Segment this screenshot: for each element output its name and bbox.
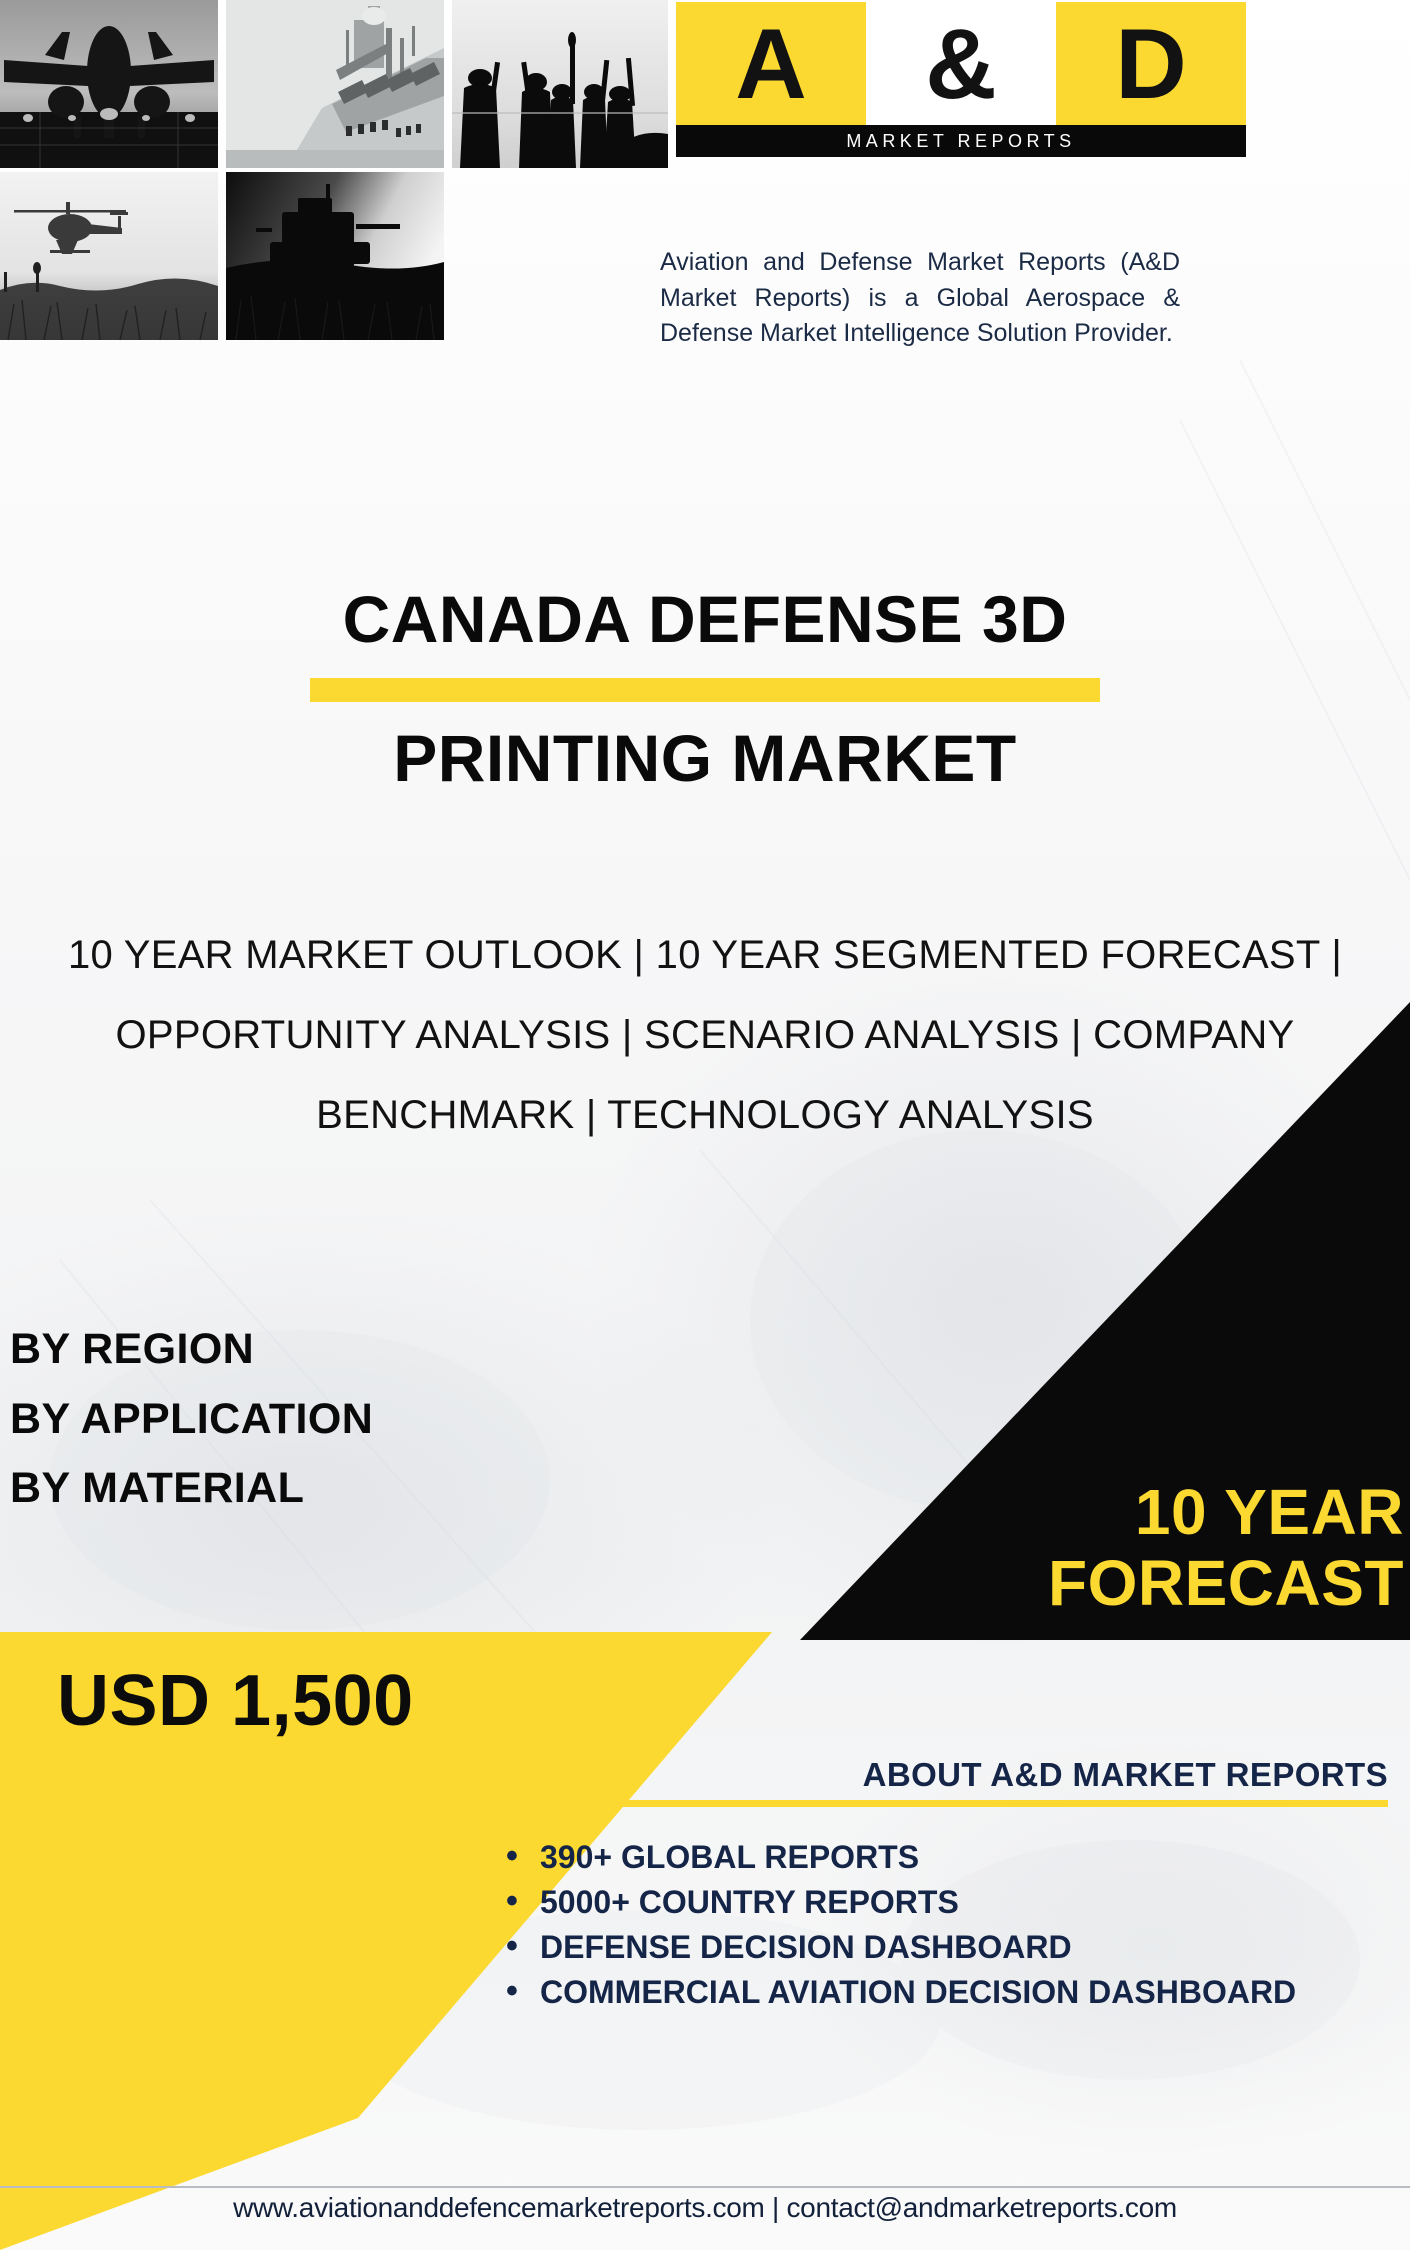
about-heading-underline [458,1800,1388,1807]
footer-contact[interactable]: www.aviationanddefencemarketreports.com … [0,2192,1410,2224]
photo-military-helicopter [0,172,218,340]
about-section: ABOUT A&D MARKET REPORTS 390+ GLOBAL REP… [458,1756,1388,2017]
brand-logo: A & D MARKET REPORTS [676,2,1246,157]
logo-letter-d: D [1056,2,1246,125]
about-bullet-item: COMMERCIAL AVIATION DECISION DASHBOARD [506,1972,1388,2013]
photo-naval-warship [226,0,444,168]
segmentation-list: BY REGION BY APPLICATION BY MATERIAL [10,1315,373,1524]
forecast-badge-line-2: FORECAST [1048,1548,1404,1620]
about-bullet-list: 390+ GLOBAL REPORTS 5000+ COUNTRY REPORT… [458,1837,1388,2013]
segmentation-item-material: BY MATERIAL [10,1454,373,1524]
about-bullet-item: 5000+ COUNTRY REPORTS [506,1882,1388,1923]
intro-paragraph: Aviation and Defense Market Reports (A&D… [660,245,1180,352]
logo-subtitle: MARKET REPORTS [676,125,1246,157]
logo-letters-row: A & D [676,2,1246,125]
photo-soldiers-silhouette [452,0,668,168]
photo-fighter-jet-on-carrier-deck [0,0,218,168]
photo-grid [0,0,668,340]
photo-armored-vehicle [226,172,444,340]
title-line-2: PRINTING MARKET [0,724,1410,793]
about-heading: ABOUT A&D MARKET REPORTS [458,1756,1388,1800]
title-line-1: CANADA DEFENSE 3D [0,585,1410,654]
about-bullet-item: 390+ GLOBAL REPORTS [506,1837,1388,1878]
logo-letter-a: A [676,2,866,125]
about-bullet-item: DEFENSE DECISION DASHBOARD [506,1927,1388,1968]
logo-letter-ampersand: & [866,2,1056,125]
report-cover-poster: A & D MARKET REPORTS Aviation and Defens… [0,0,1410,2250]
forecast-badge: 10 YEAR FORECAST [884,1000,1404,1620]
price-value: USD 1,500 [57,1660,414,1742]
segmentation-item-application: BY APPLICATION [10,1385,373,1455]
segmentation-item-region: BY REGION [10,1315,373,1385]
forecast-badge-line-1: 10 YEAR [1135,1477,1404,1549]
title-divider-rule [310,678,1100,702]
footer-divider [0,2186,1410,2188]
report-title: CANADA DEFENSE 3D PRINTING MARKET [0,585,1410,792]
